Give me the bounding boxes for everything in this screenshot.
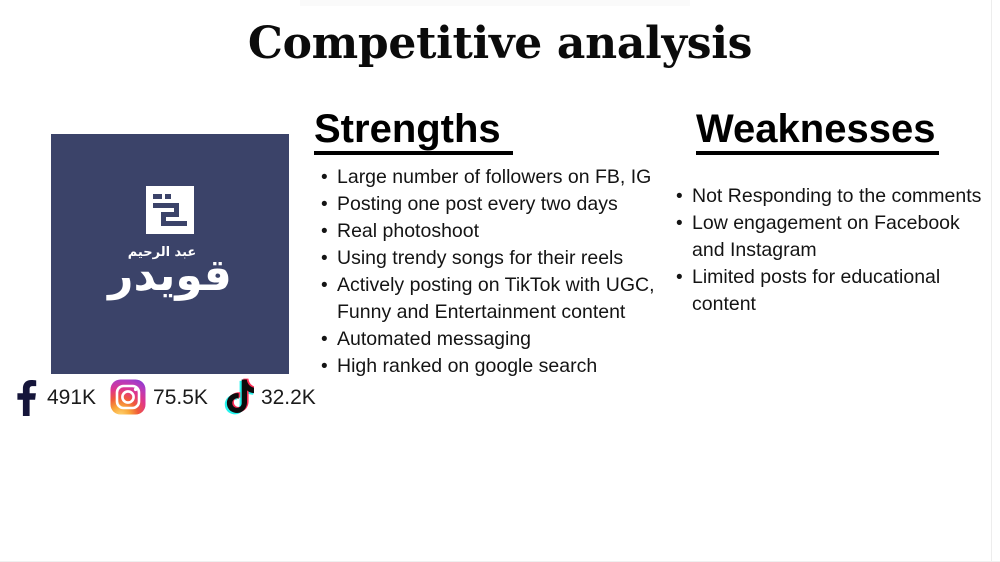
stat-value-tiktok: 32.2K (261, 387, 316, 408)
list-item: Using trendy songs for their reels (310, 245, 660, 272)
list-item: Real photoshoot (310, 218, 660, 245)
instagram-icon (110, 379, 146, 415)
weaknesses-list: Not Responding to the comments Low engag… (665, 183, 995, 318)
competitor-logo: عبد الرحيم قويدر (51, 134, 289, 374)
list-item: Automated messaging (310, 326, 660, 353)
strengths-column: Strengths Large number of followers on F… (310, 108, 660, 380)
social-stats-row: 491K (10, 378, 330, 416)
stat-instagram: 75.5K (110, 379, 208, 415)
facebook-icon (10, 378, 40, 416)
list-item: Posting one post every two days (310, 191, 660, 218)
slide-canvas: Competitive analysis عبد الرحيم قويدر (0, 0, 1000, 562)
list-item: Not Responding to the comments (665, 183, 995, 210)
list-item: High ranked on google search (310, 353, 660, 380)
logo-wordmark: عبد الرحيم قويدر (51, 246, 289, 299)
list-item: Limited posts for educational content (665, 264, 995, 318)
stat-value-instagram: 75.5K (153, 387, 208, 408)
strengths-list: Large number of followers on FB, IG Post… (310, 164, 660, 380)
stat-facebook: 491K (10, 378, 96, 416)
stat-value-facebook: 491K (47, 387, 96, 408)
tiktok-icon (222, 378, 254, 416)
weaknesses-heading: Weaknesses (696, 108, 939, 155)
logo-wordmark-main: قويدر (51, 253, 289, 299)
list-item: Actively posting on TikTok with UGC, Fun… (310, 272, 660, 326)
strengths-heading: Strengths (314, 108, 513, 155)
weaknesses-column: Weaknesses Not Responding to the comment… (665, 108, 995, 318)
list-item: Large number of followers on FB, IG (310, 164, 660, 191)
list-item: Low engagement on Facebook and Instagram (665, 210, 995, 264)
brand-block: عبد الرحيم قويدر (51, 134, 289, 374)
qweider-monogram-icon (146, 186, 194, 234)
stat-tiktok: 32.2K (222, 378, 316, 416)
slide-top-edge (300, 0, 690, 6)
page-title: Competitive analysis (0, 18, 1000, 69)
